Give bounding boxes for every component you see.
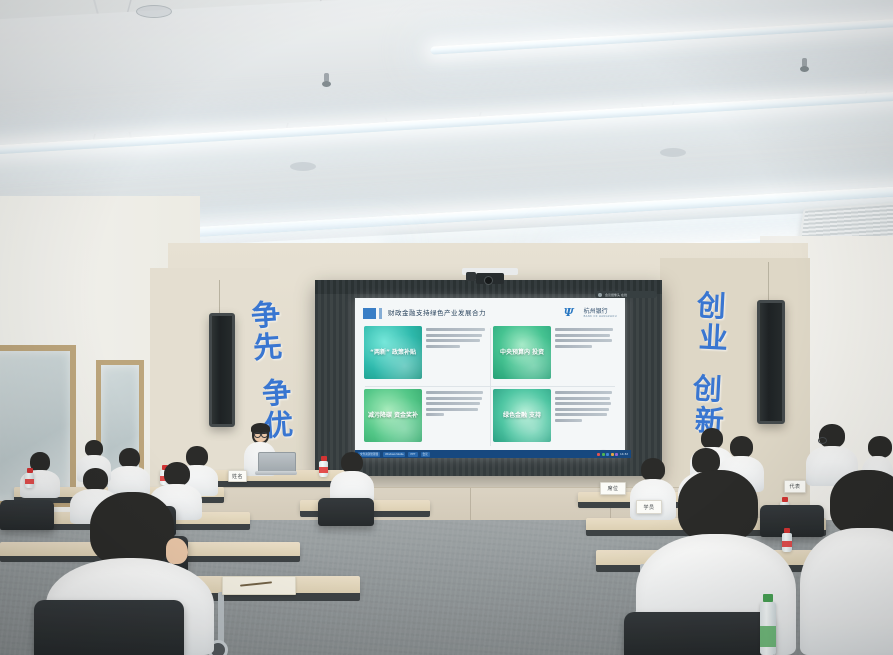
slide-card-caption: “两新” 政策补贴 [370,349,416,357]
presenter-laptop-base [255,471,297,475]
wall-speaker [757,300,785,424]
sprinkler-head-icon [800,58,809,74]
ceiling-smoke-detector-icon [660,148,686,157]
taskbar-item[interactable]: 会议 [421,452,430,457]
taskbar-item[interactable]: PPT [408,452,417,457]
chair[interactable] [34,600,184,655]
speaker-wire [219,280,220,316]
ceiling-fixture [136,5,172,18]
slide-title-accent-icon [363,308,376,319]
conference-room-photo: 争 先 争 优 创 业 创 新 财政金融支持绿色产业发展合力 Ψ 杭州银行 BA… [0,0,893,655]
taskbar-system-tray[interactable]: 14:32 [597,452,628,456]
projection-screen[interactable]: 财政金融支持绿色产业发展合力 Ψ 杭州银行 BANK OF HANGZHOU “… [315,280,662,476]
wall-calligraphy-left-2: 先 [252,323,286,367]
speaker-wire [768,262,769,302]
slide-card-image: 绿色金融 支持 [493,389,551,442]
ceiling-smoke-detector-icon [290,162,316,171]
slide-card-caption: 中央预算内 投资 [500,349,544,357]
slide-logo: Ψ 杭州银行 BANK OF HANGZHOU [564,306,617,318]
chair[interactable] [318,498,374,526]
slide-card: “两新” 政策补贴 [364,326,487,385]
notebook [222,576,296,595]
taskbar-item[interactable]: Windows Media [383,452,405,457]
slide-card-image: 减污降碳 资金奖补 [364,389,422,442]
slide-card: 绿色金融 支持 [493,389,616,448]
taskbar-clock: 14:32 [620,452,628,456]
slide-title-accent-icon [379,308,382,319]
slide-card: 减污降碳 资金奖补 [364,389,487,448]
video-conference-camera [462,268,518,284]
screen-status-badge: 会议摄像头 在线 [595,291,657,298]
name-tent-card: 席位 [600,482,626,495]
slide-card: 中央预算内 投资 [493,326,616,385]
slide-card-caption: 绿色金融 支持 [503,412,541,420]
wall-speaker [209,313,235,427]
bank-logo-subtext: BANK OF HANGZHOU [584,315,617,318]
windows-taskbar[interactable]: 文件资源管理器 Windows Media PPT 会议 14:32 [355,450,631,458]
bank-logo-text: 杭州银行 [584,306,617,315]
slide-card-image: 中央预算内 投资 [493,326,551,379]
slide-title: 财政金融支持绿色产业发展合力 [388,307,486,317]
sprinkler-head-icon [322,73,331,89]
name-tent-card: 姓名 [228,470,247,482]
slide-card-caption: 减污降碳 资金奖补 [368,412,418,420]
camera-lens-icon [484,276,493,285]
water-bottle [25,473,34,488]
wall-calligraphy-right-2: 业 [698,314,731,358]
water-bottle [760,602,776,655]
slide-card-text [426,389,487,448]
water-bottle [319,461,328,477]
slide-card-text [426,326,487,385]
slide-card-grid: “两新” 政策补贴 中央预算内 投资 [364,326,616,448]
bank-logo-icon: Ψ [564,307,581,318]
chair[interactable] [624,612,774,655]
slide-card-text [555,326,616,385]
slide-card-text [555,389,616,448]
slide-card-image: “两新” 政策补贴 [364,326,422,379]
presentation-slide: 财政金融支持绿色产业发展合力 Ψ 杭州银行 BANK OF HANGZHOU “… [355,298,625,458]
foreground-attendee-far-right [800,470,893,655]
